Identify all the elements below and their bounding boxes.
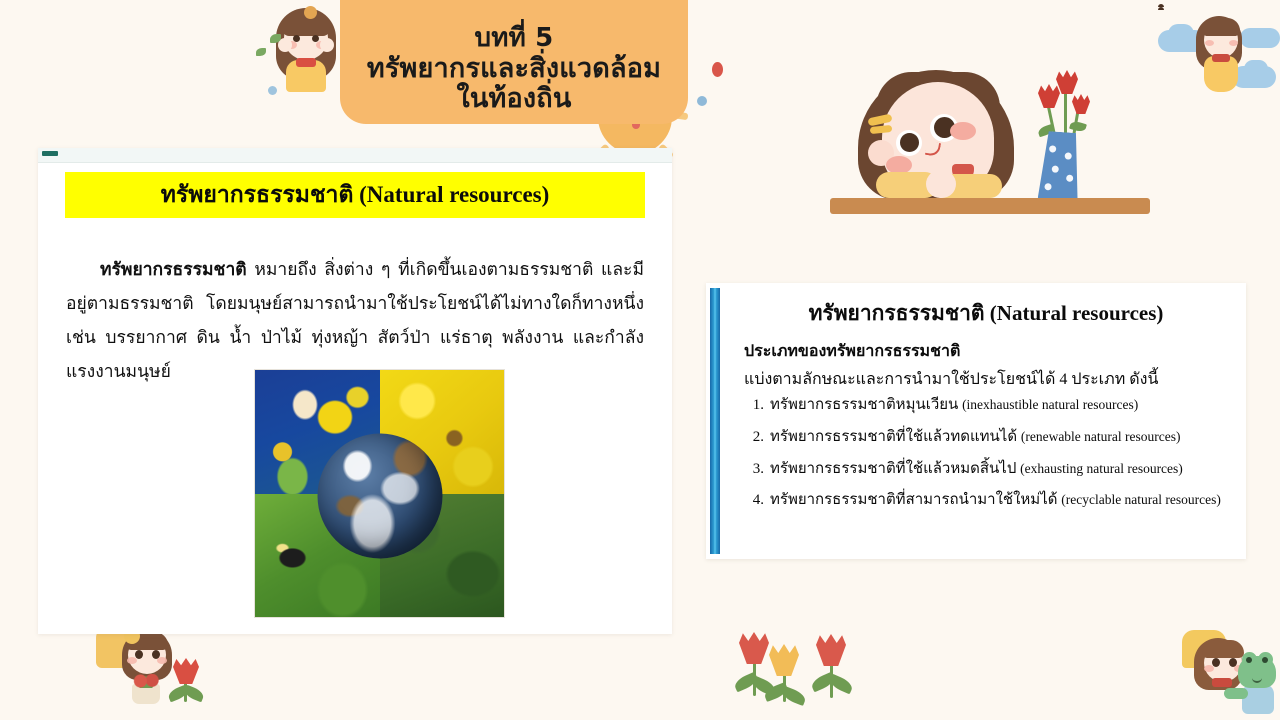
list-item: 3.ทรัพยากรธรรมชาติที่ใช้แล้วหมดสิ้นไป (e… xyxy=(770,461,1260,478)
tulip-icon xyxy=(168,654,204,710)
left-card-title-text: ทรัพยากรธรรมชาติ (Natural resources) xyxy=(161,177,550,213)
banner-line-3: ในท้องถิ่น xyxy=(456,84,571,114)
list-item-english: (renewable natural resources) xyxy=(1021,429,1181,444)
left-card-title-highlight: ทรัพยากรธรรมชาติ (Natural resources) xyxy=(65,172,645,218)
list-item: 4.ทรัพยากรธรรมชาติที่สามารถนำมาใช้ใหม่ได… xyxy=(770,492,1260,509)
three-tulips-icon xyxy=(736,628,856,706)
girl-hands-on-cheeks-icon xyxy=(262,2,350,90)
banner-line-2: ทรัพยากรและสิ่งแวดล้อม xyxy=(367,54,661,84)
confetti-dot-icon xyxy=(268,86,277,95)
card-top-bar xyxy=(38,148,672,163)
list-item-number: 3. xyxy=(744,461,764,478)
confetti-dot-icon xyxy=(697,96,707,106)
banner-line-1: บทที่ 5 xyxy=(475,24,554,53)
chapter-title-banner: บทที่ 5 ทรัพยากรและสิ่งแวดล้อม ในท้องถิ่… xyxy=(340,0,688,124)
list-item-english: (exhausting natural resources) xyxy=(1020,461,1183,476)
left-content-card: ทรัพยากรธรรมชาติ (Natural resources) ทรั… xyxy=(38,148,672,634)
list-item-number: 2. xyxy=(744,429,764,446)
nature-collage-image xyxy=(254,369,505,618)
list-item-thai: ทรัพยากรธรรมชาติที่ใช้แล้วหมดสิ้นไป xyxy=(770,461,1020,477)
right-panel-title: ทรัพยากรธรรมชาติ (Natural resources) xyxy=(746,297,1226,330)
slide-canvas: ทรัพยากรธรรมชาติ (Natural resources) ทรั… xyxy=(0,0,1280,720)
girl-resting-at-desk-icon xyxy=(824,44,1160,228)
right-panel-subtitle: ประเภทของทรัพยากรธรรมชาติ xyxy=(744,339,960,364)
right-panel-lead: แบ่งตามลักษณะและการนำมาใช้ประโยชน์ได้ 4 … xyxy=(744,367,1158,392)
right-content-panel: ทรัพยากรธรรมชาติ (Natural resources) ประ… xyxy=(706,283,1246,559)
list-item-english: (inexhaustible natural resources) xyxy=(962,397,1138,412)
card-corner-tick-icon xyxy=(42,151,58,156)
girl-with-frog-plush-icon xyxy=(1182,630,1278,720)
list-item: 2.ทรัพยากรธรรมชาติที่ใช้แล้วทดแทนได้ (re… xyxy=(770,429,1260,446)
list-item-number: 4. xyxy=(744,492,764,509)
list-item-thai: ทรัพยากรธรรมชาติที่สามารถนำมาใช้ใหม่ได้ xyxy=(770,492,1061,508)
frog-plush-icon xyxy=(1238,656,1276,712)
left-card-paragraph: ทรัพยากรธรรมชาติ หมายถึง สิ่งต่าง ๆ ที่เ… xyxy=(66,252,644,389)
confetti-dot-icon xyxy=(712,62,723,77)
panel-accent-bar xyxy=(710,288,720,554)
list-item-english: (recyclable natural resources) xyxy=(1061,492,1221,507)
earth-globe-icon xyxy=(317,433,442,558)
resource-type-list: 1.ทรัพยากรธรรมชาติหมุนเวียน (inexhaustib… xyxy=(744,397,1260,524)
list-item-number: 1. xyxy=(744,397,764,414)
paragraph-bold-lead: ทรัพยากรธรรมชาติ xyxy=(100,259,247,279)
list-item: 1.ทรัพยากรธรรมชาติหมุนเวียน (inexhaustib… xyxy=(770,397,1260,414)
list-item-thai: ทรัพยากรธรรมชาติที่ใช้แล้วทดแทนได้ xyxy=(770,429,1021,445)
girl-floating-on-clouds-icon xyxy=(1158,4,1278,100)
list-item-thai: ทรัพยากรธรรมชาติหมุนเวียน xyxy=(770,397,962,413)
